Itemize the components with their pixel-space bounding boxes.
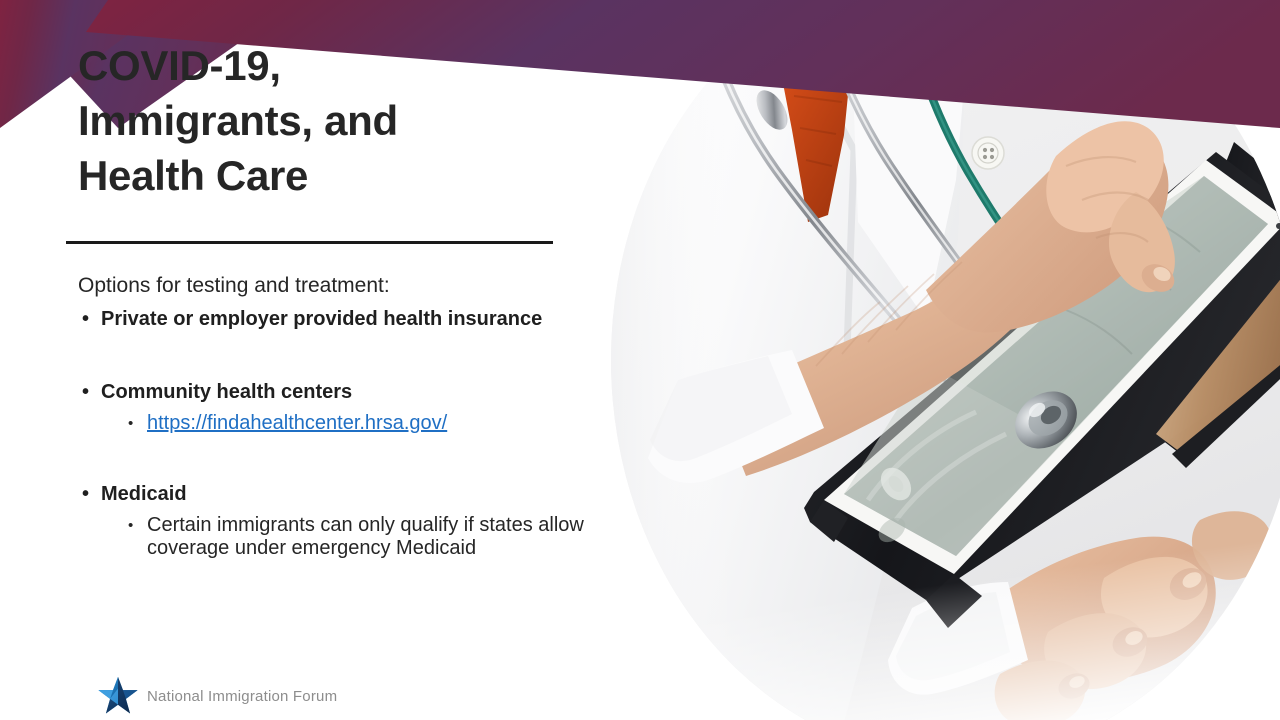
list-item-label: Medicaid (101, 483, 187, 505)
star-logo-icon (97, 676, 139, 716)
list-item: • Certain immigrants can only qualify if… (78, 514, 598, 560)
spacer (78, 331, 598, 377)
bullet-glyph-icon: • (128, 514, 133, 537)
bullet-glyph-icon: • (128, 412, 133, 435)
slide-canvas: COVID-19, Immigrants, and Health Care Op… (0, 0, 1280, 720)
bullet-list: • Private or employer provided health in… (78, 308, 598, 560)
page-title-line-1: COVID-19, (78, 38, 578, 93)
page-title: COVID-19, Immigrants, and Health Care (78, 38, 578, 203)
title-divider (66, 241, 553, 244)
list-item-label: Certain immigrants can only qualify if s… (147, 514, 584, 559)
list-item: • https://findahealthcenter.hrsa.gov/ (78, 412, 598, 435)
bullet-glyph-icon: • (82, 483, 89, 506)
organization-logo: National Immigration Forum (97, 676, 337, 716)
content-body: Options for testing and treatment: • Pri… (78, 272, 598, 560)
bullet-glyph-icon: • (82, 308, 89, 331)
bullet-glyph-icon: • (82, 381, 89, 404)
list-item-label: Private or employer provided health insu… (101, 308, 542, 330)
lead-text: Options for testing and treatment: (78, 272, 598, 300)
page-title-line-3: Health Care (78, 148, 578, 203)
list-item: • Private or employer provided health in… (78, 308, 598, 331)
list-item: • Community health centers (78, 381, 598, 404)
list-item-label: Community health centers (101, 381, 352, 403)
findahealthcenter-link[interactable]: https://findahealthcenter.hrsa.gov/ (147, 412, 447, 434)
list-item: • Medicaid (78, 483, 598, 506)
spacer (78, 435, 598, 479)
doctor-with-tablet-photo (596, 0, 1280, 720)
page-title-line-2: Immigrants, and (78, 93, 578, 148)
organization-name: National Immigration Forum (147, 688, 337, 705)
